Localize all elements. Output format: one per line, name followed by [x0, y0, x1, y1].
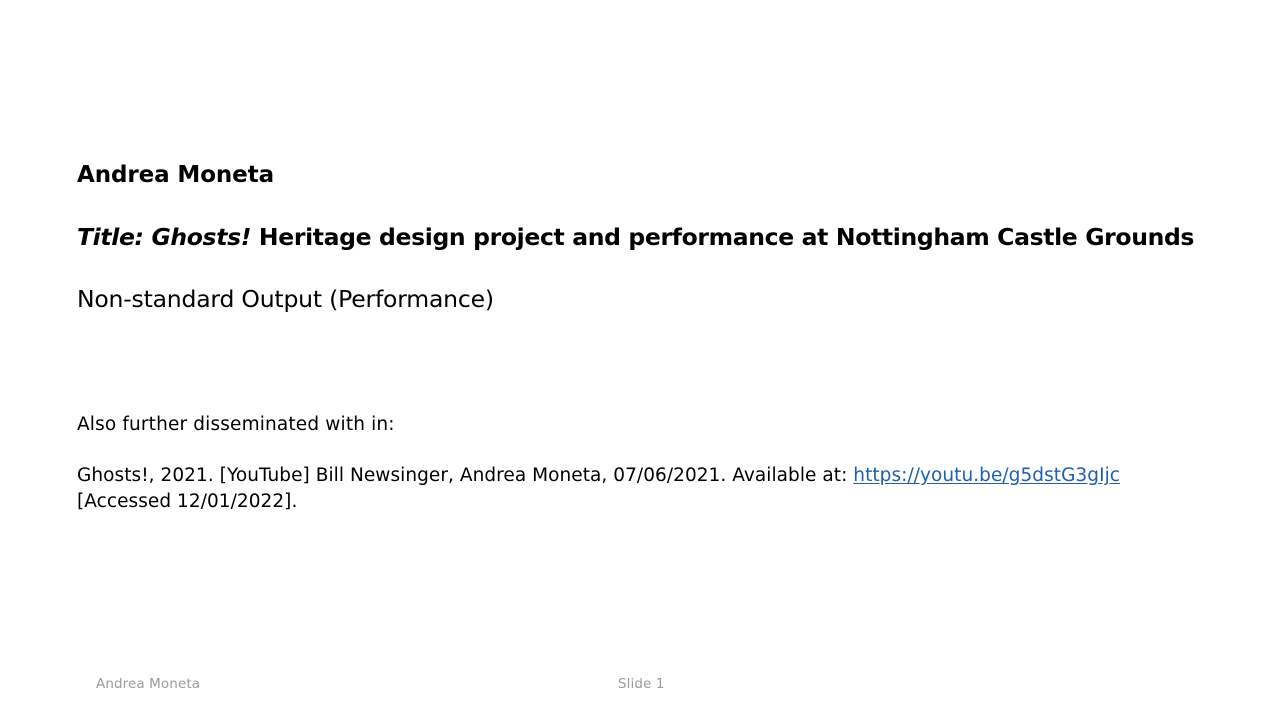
project-title-emphasis: Title: Ghosts!	[77, 223, 251, 251]
citation-block: Ghosts!, 2021. [YouTube] Bill Newsinger,…	[77, 463, 1207, 514]
citation-accessed-date: [Accessed 12/01/2022].	[77, 491, 297, 512]
slide-body: Andrea Moneta Title: Ghosts! Heritage de…	[77, 160, 1197, 315]
dissemination-label: Also further disseminated with in:	[77, 412, 395, 438]
slide-footer: Andrea Moneta Slide 1	[0, 676, 1280, 700]
youtube-link[interactable]: https://youtu.be/g5dstG3gIjc	[853, 465, 1120, 486]
project-title: Title: Ghosts! Heritage design project a…	[77, 222, 1197, 253]
output-type: Non-standard Output (Performance)	[77, 284, 1197, 315]
project-title-rest: Heritage design project and performance …	[251, 223, 1194, 251]
slide-canvas: Andrea Moneta Title: Ghosts! Heritage de…	[0, 0, 1280, 720]
citation-before-link: Ghosts!, 2021. [YouTube] Bill Newsinger,…	[77, 465, 853, 486]
footer-author: Andrea Moneta	[96, 676, 200, 692]
footer-slide-number: Slide 1	[618, 676, 665, 692]
author-heading: Andrea Moneta	[77, 160, 1197, 190]
